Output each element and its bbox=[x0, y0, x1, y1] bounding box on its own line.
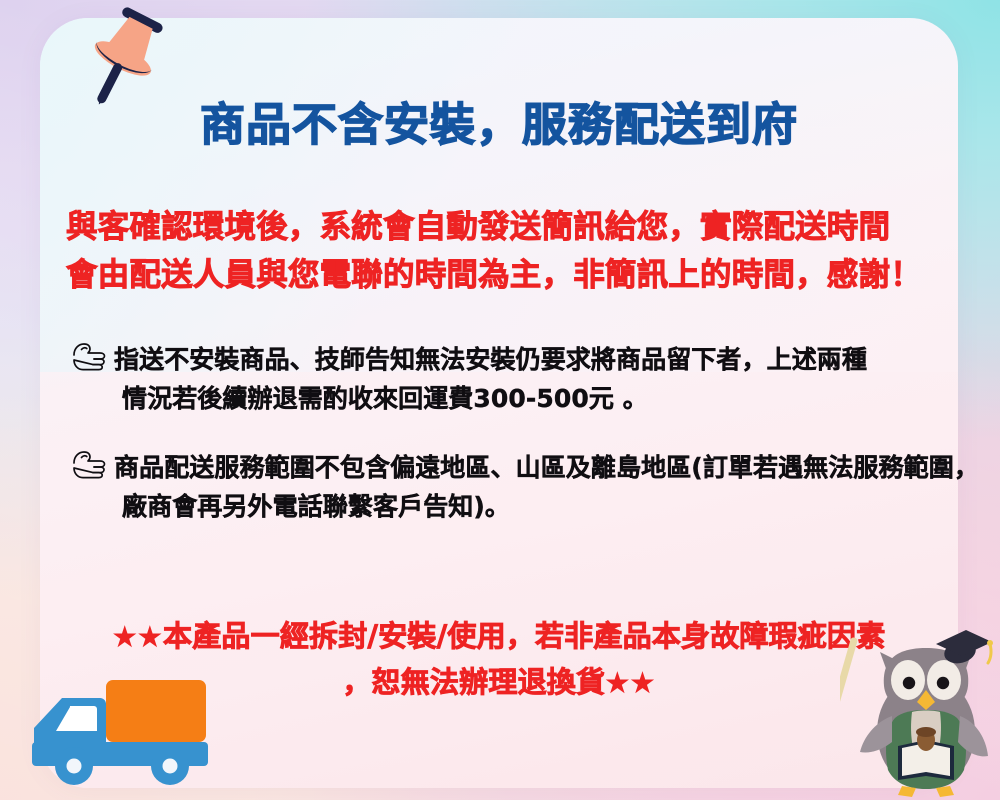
pointing-hand-icon bbox=[70, 341, 108, 373]
truck-cargo-box bbox=[106, 680, 206, 742]
lede-line-2: 會由配送人員與您電聯的時間為主，非簡訊上的時間，感謝！ bbox=[66, 252, 932, 300]
delivery-truck-icon bbox=[18, 664, 250, 796]
note-line-1: 商品配送服務範圍不包含偏遠地區、山區及離島地區(訂單若遇無法服務範圍， bbox=[114, 448, 960, 487]
page-title: 商品不含安裝，服務配送到府 bbox=[40, 100, 958, 150]
warning-line-1: ★★本產品一經拆封/安裝/使用，若非產品本身故障瑕疵因素 bbox=[40, 614, 958, 660]
owl-foot-right bbox=[936, 786, 954, 797]
notes-list: 指送不安裝商品、技師告知無法安裝仍要求將商品留下者，上述兩種 情況若後續辦退需酌… bbox=[70, 340, 960, 556]
owl-pointer-stick bbox=[840, 637, 858, 731]
list-item: 指送不安裝商品、技師告知無法安裝仍要求將商品留下者，上述兩種 情況若後續辦退需酌… bbox=[70, 340, 960, 418]
owl-foot-left bbox=[898, 786, 916, 797]
note-line-2: 廠商會再另外電話聯繫客戶告知)。 bbox=[114, 487, 960, 526]
warning-body-1: 本產品一經拆封/安裝/使用，若非產品本身故障瑕疵因素 bbox=[163, 619, 885, 653]
star-right: ★★ bbox=[605, 668, 655, 699]
lede-line-1: 與客確認環境後，系統會自動發送簡訊給您，實際配送時間 bbox=[66, 204, 932, 252]
note-line-1: 指送不安裝商品、技師告知無法安裝仍要求將商品留下者，上述兩種 bbox=[114, 340, 960, 379]
warning-body-2: ，恕無法辦理退換貨 bbox=[342, 665, 605, 699]
note-line-2: 情況若後續辦退需酌收來回運費300-500元 。 bbox=[114, 379, 960, 418]
star-left: ★★ bbox=[113, 622, 163, 653]
list-item: 商品配送服務範圍不包含偏遠地區、山區及離島地區(訂單若遇無法服務範圍， 廠商會再… bbox=[70, 448, 960, 526]
lede-paragraph: 與客確認環境後，系統會自動發送簡訊給您，實際配送時間 會由配送人員與您電聯的時間… bbox=[66, 204, 932, 300]
pointing-hand-icon bbox=[70, 449, 108, 481]
graduate-owl-icon bbox=[840, 628, 998, 800]
banner-stage: 商品不含安裝，服務配送到府 與客確認環境後，系統會自動發送簡訊給您，實際配送時間… bbox=[0, 0, 1000, 800]
